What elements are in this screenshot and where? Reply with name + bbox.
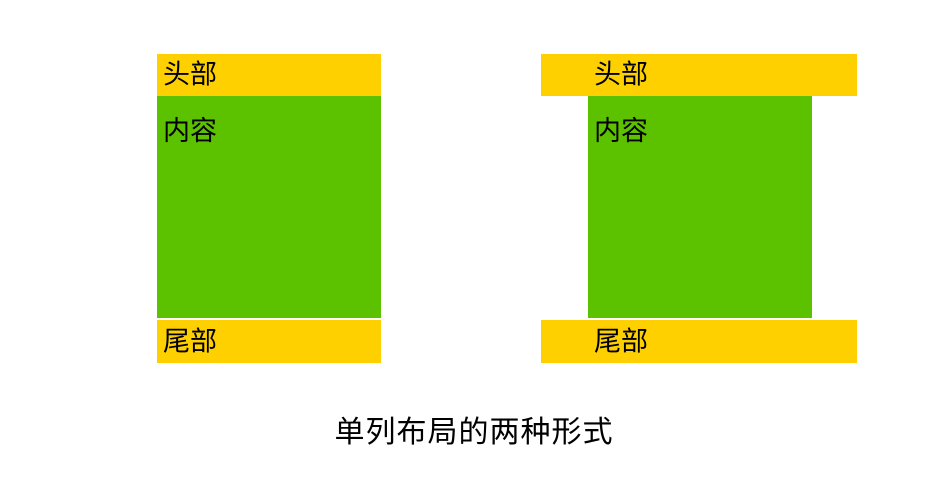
figure-a-footer-block: 尾部 (157, 320, 381, 363)
figure-b-content-label: 内容 (594, 118, 648, 145)
figure-a-footer-label: 尾部 (163, 328, 217, 355)
figure-a-content-label: 内容 (163, 118, 217, 145)
figure-caption: 单列布局的两种形式 (0, 415, 948, 451)
figure-b-footer-block: 尾部 (541, 320, 857, 363)
diagram-canvas: 头部 内容 尾部 头部 内容 尾部 单列布局的两种形式 (0, 0, 948, 488)
figure-a-header-block: 头部 (157, 54, 381, 96)
figure-a-content-block: 内容 (157, 96, 381, 318)
figure-b-footer-label: 尾部 (594, 328, 648, 355)
figure-b-header-block: 头部 (541, 54, 857, 96)
figure-b-header-label: 头部 (594, 62, 648, 89)
figure-a-header-label: 头部 (163, 62, 217, 89)
figure-b-content-block: 内容 (588, 96, 812, 318)
